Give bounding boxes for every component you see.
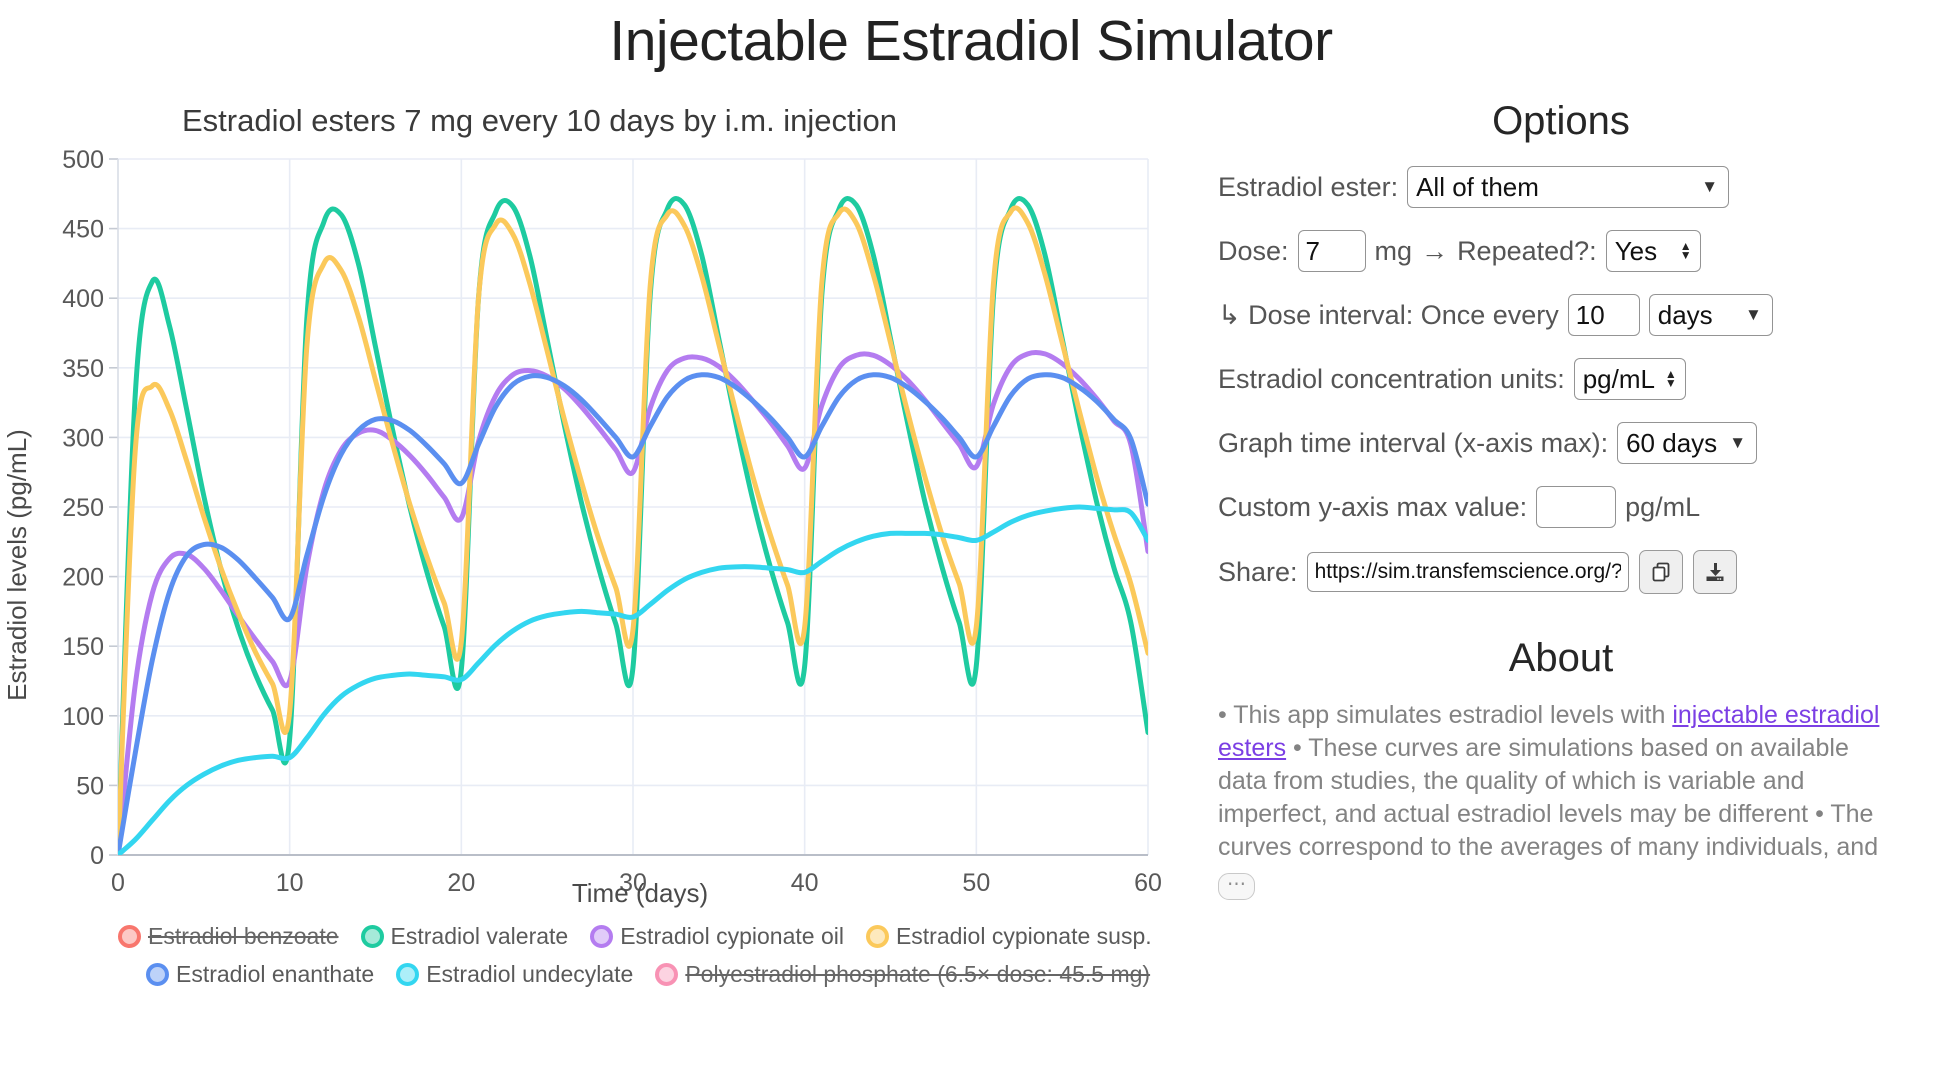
options-heading: Options — [1200, 99, 1922, 144]
dose-interval-label: ↳ Dose interval: Once every — [1218, 300, 1559, 331]
svg-text:200: 200 — [62, 564, 104, 592]
dose-input[interactable] — [1298, 230, 1366, 272]
options-panel: Options Estradiol ester: All of them ▼ D… — [1200, 77, 1942, 900]
svg-text:300: 300 — [62, 425, 104, 453]
svg-text:60: 60 — [1134, 869, 1162, 897]
y-axis-tick-labels: 050100150200250300350400450500 — [62, 146, 118, 870]
estradiol-ester-select[interactable]: All of them — [1407, 166, 1729, 208]
svg-text:0: 0 — [111, 869, 125, 897]
legend-label: Estradiol cypionate oil — [620, 923, 844, 950]
about-part2: • These curves are simulations based on … — [1218, 734, 1878, 861]
option-row-ymax: Custom y-axis max value: pg/mL — [1200, 486, 1922, 528]
legend-row: Estradiol benzoateEstradiol valerateEstr… — [118, 917, 1100, 955]
copy-icon[interactable] — [1639, 550, 1683, 594]
svg-text:20: 20 — [447, 869, 475, 897]
custom-ymax-input[interactable] — [1536, 486, 1616, 528]
ester-label: Estradiol ester: — [1218, 172, 1398, 203]
x-axis-label: Time (days) — [572, 878, 708, 908]
legend-label: Estradiol undecylate — [426, 961, 633, 988]
svg-text:250: 250 — [62, 494, 104, 522]
dose-interval-input[interactable] — [1568, 294, 1640, 336]
legend-row: Estradiol enanthateEstradiol undecylateP… — [118, 955, 1100, 993]
option-row-dose-interval: ↳ Dose interval: Once every daysweeksmon… — [1200, 294, 1922, 336]
concentration-units-select[interactable]: pg/mLpmol/L — [1574, 358, 1686, 400]
legend-item[interactable]: Estradiol valerate — [361, 923, 569, 950]
svg-text:100: 100 — [62, 703, 104, 731]
legend-item[interactable]: Estradiol cypionate oil — [590, 923, 844, 950]
share-label: Share: — [1218, 557, 1298, 588]
svg-text:50: 50 — [962, 869, 990, 897]
legend-color-swatch — [146, 963, 169, 986]
svg-text:150: 150 — [62, 633, 104, 661]
graph-time-interval-select[interactable]: 60 days — [1617, 422, 1757, 464]
option-row-units: Estradiol concentration units: pg/mLpmol… — [1200, 358, 1922, 400]
about-text: • This app simulates estradiol levels wi… — [1200, 699, 1922, 900]
estradiol-levels-line-chart: 050100150200250300350400450500 010203040… — [0, 145, 1170, 915]
share-url-input[interactable] — [1307, 552, 1629, 592]
dose-label: Dose: — [1218, 236, 1289, 267]
legend-item[interactable]: Estradiol undecylate — [396, 961, 633, 988]
svg-text:50: 50 — [76, 773, 104, 801]
legend-label: Estradiol benzoate — [148, 923, 339, 950]
svg-text:450: 450 — [62, 216, 104, 244]
svg-text:500: 500 — [62, 146, 104, 174]
svg-text:400: 400 — [62, 285, 104, 313]
y-axis-label: Estradiol levels (pg/mL) — [2, 429, 32, 701]
graph-time-interval-label: Graph time interval (x-axis max): — [1218, 428, 1608, 459]
main-layout: Estradiol esters 7 mg every 10 days by i… — [0, 77, 1942, 993]
option-row-ester: Estradiol ester: All of them ▼ — [1200, 166, 1922, 208]
svg-text:350: 350 — [62, 355, 104, 383]
legend-label: Estradiol enanthate — [176, 961, 374, 988]
about-part1: • This app simulates estradiol levels wi… — [1218, 701, 1672, 729]
legend-color-swatch — [118, 925, 141, 948]
show-more-button[interactable]: ⋯ — [1218, 873, 1255, 900]
download-icon[interactable] — [1693, 550, 1737, 594]
chart-title: Estradiol esters 7 mg every 10 days by i… — [0, 103, 1200, 139]
about-heading: About — [1200, 636, 1922, 681]
option-row-dose: Dose: mg → Repeated?: YesNo ▲▼ — [1200, 230, 1922, 272]
page-title: Injectable Estradiol Simulator — [0, 6, 1942, 77]
custom-ymax-label: Custom y-axis max value: — [1218, 492, 1527, 523]
option-row-timeframe: Graph time interval (x-axis max): 60 day… — [1200, 422, 1922, 464]
dose-interval-unit-select[interactable]: daysweeksmonths — [1649, 294, 1773, 336]
legend-item[interactable]: Estradiol benzoate — [118, 923, 339, 950]
svg-text:0: 0 — [90, 842, 104, 870]
arrow-right-icon: → — [1421, 236, 1448, 267]
legend-label: Estradiol cypionate susp. — [896, 923, 1152, 950]
legend-label: Polyestradiol phosphate (6.5× dose: 45.5… — [685, 961, 1150, 988]
legend-label: Estradiol valerate — [391, 923, 569, 950]
ymax-unit-label: pg/mL — [1625, 492, 1700, 523]
legend-item[interactable]: Estradiol enanthate — [146, 961, 374, 988]
repeated-select[interactable]: YesNo — [1606, 230, 1701, 272]
legend-color-swatch — [655, 963, 678, 986]
legend-color-swatch — [590, 925, 613, 948]
repeated-label: Repeated?: — [1457, 236, 1597, 267]
dose-unit-label: mg — [1375, 236, 1413, 267]
legend-item[interactable]: Polyestradiol phosphate (6.5× dose: 45.5… — [655, 961, 1150, 988]
concentration-units-label: Estradiol concentration units: — [1218, 364, 1565, 395]
legend-color-swatch — [866, 925, 889, 948]
svg-text:40: 40 — [791, 869, 819, 897]
legend-item[interactable]: Estradiol cypionate susp. — [866, 923, 1152, 950]
option-row-share: Share: — [1200, 550, 1922, 594]
chart-plot-area: 050100150200250300350400450500 010203040… — [0, 145, 1170, 915]
svg-text:10: 10 — [276, 869, 304, 897]
legend-color-swatch — [361, 925, 384, 948]
chart-legend: Estradiol benzoateEstradiol valerateEstr… — [0, 917, 1100, 993]
legend-color-swatch — [396, 963, 419, 986]
chart-panel: Estradiol esters 7 mg every 10 days by i… — [0, 77, 1200, 993]
